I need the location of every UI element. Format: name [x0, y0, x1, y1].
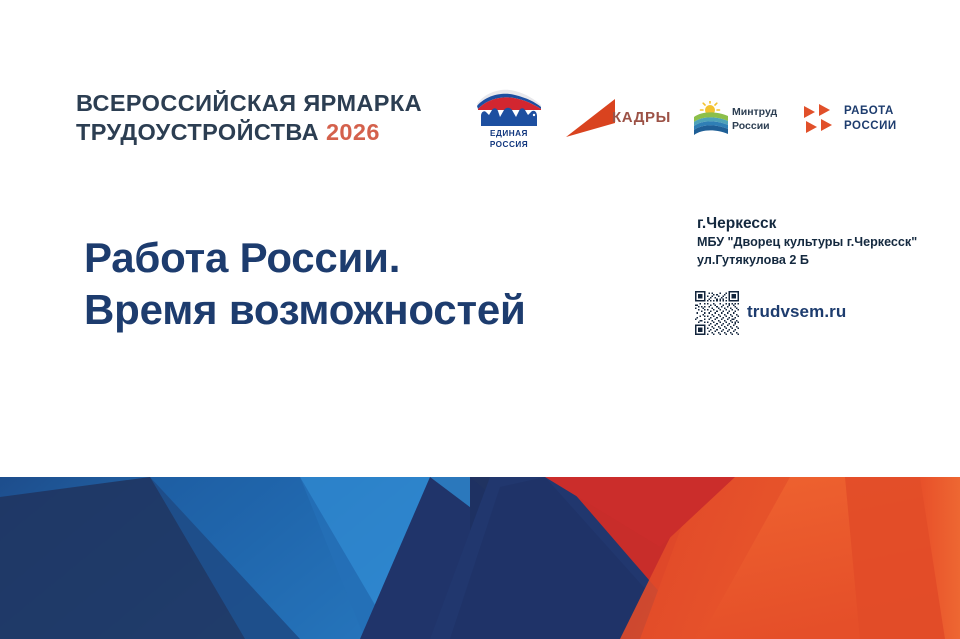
site-url[interactable]: trudvsem.ru — [747, 302, 846, 322]
rabota-rossii-line-2: РОССИИ — [844, 119, 897, 134]
venue-city: г.Черкесск — [697, 214, 953, 234]
decorative-bottom-band — [0, 477, 960, 639]
mintrud-text: Минтруд России — [732, 105, 777, 134]
national-projects-caption: НАЦИОНАЛЬНЫЕ ПРОЕКТЫ РОССИИ — [570, 103, 600, 118]
fair-title-line-2: ТРУДОУСТРОЙСТВА 2026 — [76, 118, 422, 147]
slogan-line-1: Работа России. — [84, 232, 526, 284]
united-russia-logo: ЕДИНАЯ РОССИЯ — [471, 88, 547, 150]
mintrud-line-1: Минтруд — [732, 105, 777, 119]
fair-title-line-1: ВСЕРОССИЙСКАЯ ЯРМАРКА — [76, 89, 422, 118]
band-graphic-icon — [0, 477, 960, 639]
united-russia-line-2: РОССИЯ — [471, 140, 547, 151]
four-triangles-icon — [802, 102, 838, 136]
sun-field-icon — [694, 101, 728, 135]
fair-title-line-2-text: ТРУДОУСТРОЙСТВА — [76, 119, 319, 145]
poster-canvas: ВСЕРОССИЙСКАЯ ЯРМАРКА ТРУДОУСТРОЙСТВА 20… — [0, 0, 960, 639]
venue-block: г.Черкесск МБУ "Дворец культуры г.Черкес… — [697, 214, 953, 270]
bear-icon — [477, 104, 541, 128]
kadry-logo: НАЦИОНАЛЬНЫЕ ПРОЕКТЫ РОССИИ КАДРЫ — [560, 97, 680, 142]
main-slogan: Работа России. Время возможностей — [84, 232, 526, 336]
united-russia-line-1: ЕДИНАЯ — [471, 129, 547, 140]
rabota-rossii-line-1: РАБОТА — [844, 104, 897, 119]
venue-street: ул.Гутякулова 2 Б — [697, 252, 953, 270]
mintrud-logo: Минтруд России — [694, 99, 790, 141]
qr-row: trudvsem.ru — [695, 291, 895, 339]
fair-title: ВСЕРОССИЙСКАЯ ЯРМАРКА ТРУДОУСТРОЙСТВА 20… — [76, 89, 422, 146]
mintrud-line-2: России — [732, 119, 777, 133]
poster-header: ВСЕРОССИЙСКАЯ ЯРМАРКА ТРУДОУСТРОЙСТВА 20… — [0, 0, 960, 175]
np-line-3: РОССИИ — [570, 113, 600, 118]
kadry-wordmark: КАДРЫ — [612, 109, 671, 126]
united-russia-text: ЕДИНАЯ РОССИЯ — [471, 129, 547, 150]
rabota-rossii-logo: РАБОТА РОССИИ — [802, 99, 912, 141]
rabota-rossii-text: РАБОТА РОССИИ — [844, 104, 897, 134]
qr-code-icon[interactable] — [695, 291, 739, 335]
venue-place: МБУ "Дворец культуры г.Черкесск" — [697, 234, 953, 252]
fair-year: 2026 — [326, 119, 380, 145]
slogan-line-2: Время возможностей — [84, 284, 526, 336]
